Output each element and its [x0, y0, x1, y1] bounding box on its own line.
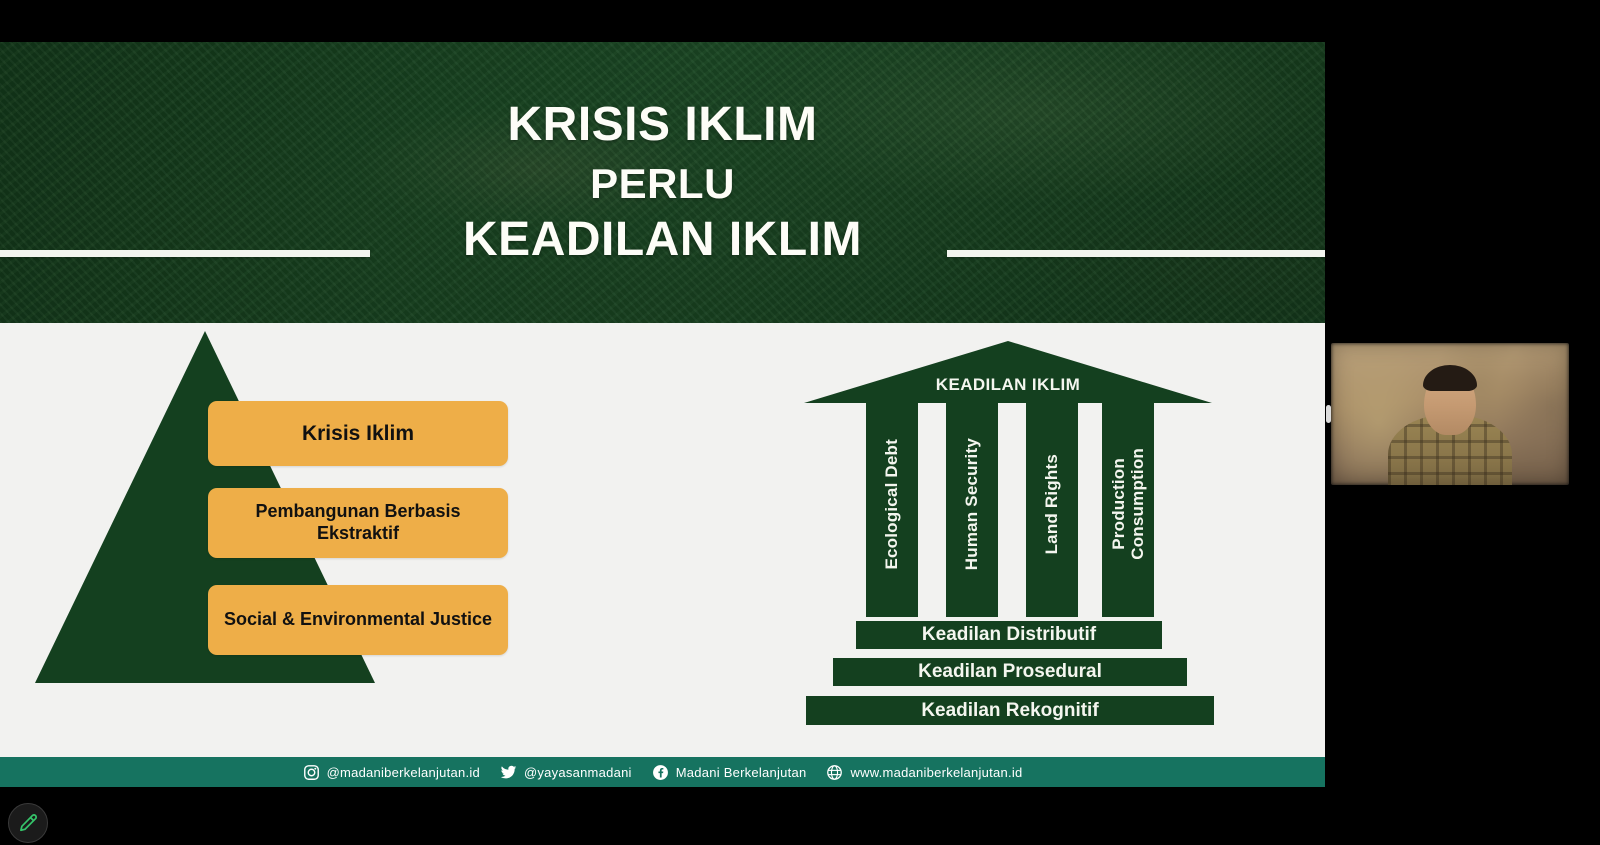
slide-title-line-3: KEADILAN IKLIM — [463, 215, 862, 264]
participant-video-tile[interactable] — [1331, 343, 1569, 485]
pillar-label-2: Human Security — [962, 438, 981, 570]
temple-pillars: Ecological Debt Human Security Land Righ… — [850, 391, 1170, 617]
presentation-slide[interactable]: KRISIS IKLIM PERLU KEADILAN IKLIM Krisis… — [0, 42, 1325, 787]
pillar-ecological-debt: Ecological Debt — [866, 391, 918, 617]
facebook-icon — [652, 764, 669, 781]
slide-title-line-2: PERLU — [590, 162, 735, 205]
slide-body: Krisis Iklim Pembangunan Berbasis Ekstra… — [0, 323, 1325, 757]
footer-item-website: www.madaniberkelanjutan.id — [826, 764, 1022, 781]
globe-icon — [826, 764, 843, 781]
slide-header-banner: KRISIS IKLIM PERLU KEADILAN IKLIM — [0, 42, 1325, 323]
slide-title-line-1: KRISIS IKLIM — [507, 100, 817, 149]
annotate-button[interactable] — [8, 803, 48, 843]
slide-footer: @madaniberkelanjutan.id @yayasanmadani M… — [0, 757, 1325, 787]
temple-step-distributif: Keadilan Distributif — [854, 619, 1164, 651]
footer-item-instagram: @madaniberkelanjutan.id — [303, 764, 480, 781]
pyramid-label-1: Krisis Iklim — [208, 401, 508, 466]
video-vignette — [1331, 343, 1569, 485]
pyramid-label-2: Pembangunan Berbasis Ekstraktif — [208, 488, 508, 558]
temple-diagram: KEADILAN IKLIM Ecological Debt Human Sec… — [790, 323, 1260, 757]
video-panel-drag-handle[interactable] — [1326, 405, 1331, 423]
temple-step-rekognitif: Keadilan Rekognitif — [804, 694, 1216, 727]
temple-step-prosedural: Keadilan Prosedural — [831, 656, 1189, 688]
pillar-label-3: Land Rights — [1042, 454, 1061, 554]
pyramid-label-3: Social & Environmental Justice — [208, 585, 508, 655]
pillar-human-security: Human Security — [946, 391, 998, 617]
pillar-label-1: Ecological Debt — [882, 439, 901, 570]
pencil-icon — [17, 812, 39, 834]
footer-item-facebook: Madani Berkelanjutan — [652, 764, 807, 781]
instagram-icon — [303, 764, 320, 781]
temple-roof-label: KEADILAN IKLIM — [804, 375, 1212, 395]
footer-label-instagram: @madaniberkelanjutan.id — [327, 765, 480, 780]
pillar-label-4: Production Consumption — [1109, 448, 1147, 560]
pillar-production-consumption: Production Consumption — [1102, 391, 1154, 617]
pillar-land-rights: Land Rights — [1026, 391, 1078, 617]
footer-label-twitter: @yayasanmadani — [524, 765, 632, 780]
pyramid-diagram: Krisis Iklim Pembangunan Berbasis Ekstra… — [0, 323, 560, 757]
footer-item-twitter: @yayasanmadani — [500, 764, 632, 781]
screen-share-view: KRISIS IKLIM PERLU KEADILAN IKLIM Krisis… — [0, 0, 1600, 845]
slide-title-group: KRISIS IKLIM PERLU KEADILAN IKLIM — [0, 42, 1325, 323]
footer-label-website: www.madaniberkelanjutan.id — [850, 765, 1022, 780]
twitter-icon — [500, 764, 517, 781]
footer-label-facebook: Madani Berkelanjutan — [676, 765, 807, 780]
